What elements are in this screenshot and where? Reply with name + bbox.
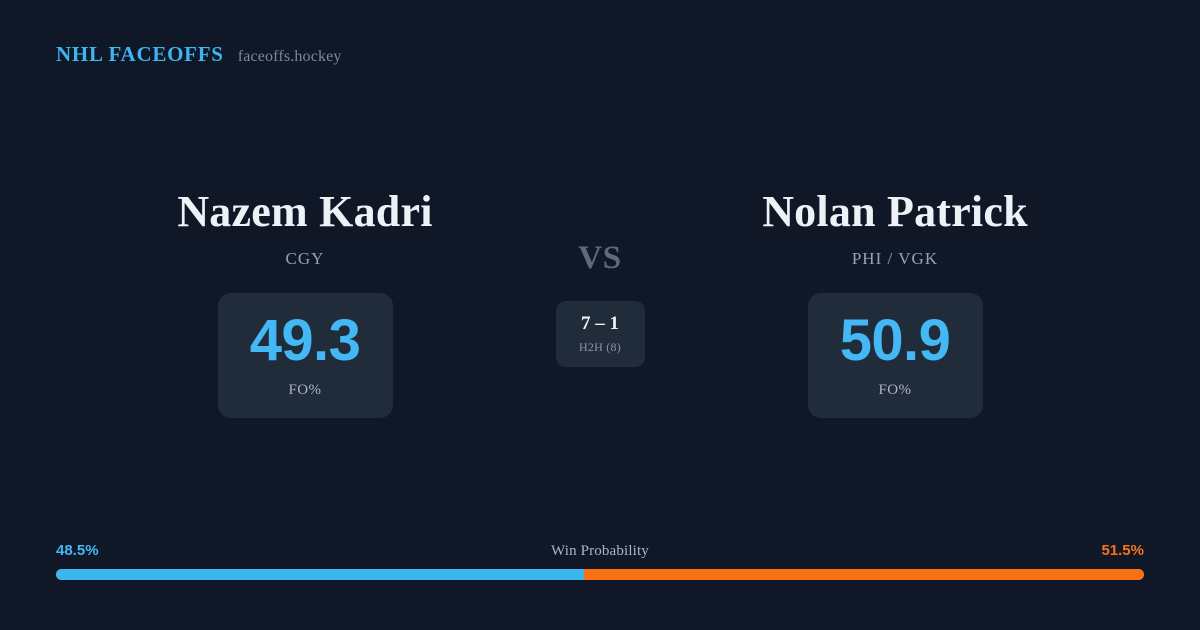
player-left-name: Nazem Kadri xyxy=(177,188,432,236)
matchup-section: Nazem Kadri CGY 49.3 FO% VS 7 – 1 H2H (8… xyxy=(0,188,1200,418)
player-right-name: Nolan Patrick xyxy=(762,188,1028,236)
player-left-faceoff-pct: 49.3 xyxy=(250,312,361,370)
win-probability-bar-right-fill xyxy=(584,569,1144,580)
brand-domain: faceoffs.hockey xyxy=(238,49,342,65)
head-to-head-label: H2H (8) xyxy=(579,340,621,355)
win-probability-section: 48.5% Win Probability 51.5% xyxy=(56,542,1144,580)
win-probability-right-value: 51.5% xyxy=(1101,542,1144,559)
win-probability-bar xyxy=(56,569,1144,580)
player-right-stat-card: 50.9 FO% xyxy=(808,293,983,418)
win-probability-labels: 48.5% Win Probability 51.5% xyxy=(56,542,1144,560)
head-to-head-record: 7 – 1 xyxy=(581,314,619,333)
versus-label: VS xyxy=(578,242,622,275)
player-right: Nolan Patrick PHI / VGK 50.9 FO% xyxy=(680,188,1110,418)
player-right-team: PHI / VGK xyxy=(852,249,938,269)
win-probability-left-value: 48.5% xyxy=(56,542,99,559)
win-probability-title: Win Probability xyxy=(551,543,649,560)
player-left: Nazem Kadri CGY 49.3 FO% xyxy=(90,188,520,418)
player-left-stat-card: 49.3 FO% xyxy=(218,293,393,418)
versus-block: VS 7 – 1 H2H (8) xyxy=(520,188,680,367)
head-to-head-box: 7 – 1 H2H (8) xyxy=(556,301,645,367)
player-left-team: CGY xyxy=(286,249,325,269)
player-right-stat-label: FO% xyxy=(878,382,911,399)
player-right-faceoff-pct: 50.9 xyxy=(840,312,951,370)
win-probability-bar-left-fill xyxy=(56,569,584,580)
player-left-stat-label: FO% xyxy=(288,382,321,399)
site-header: NHL FACEOFFS faceoffs.hockey xyxy=(56,44,342,65)
brand-title: NHL FACEOFFS xyxy=(56,44,224,65)
faceoff-matchup-card: NHL FACEOFFS faceoffs.hockey Nazem Kadri… xyxy=(0,0,1200,630)
